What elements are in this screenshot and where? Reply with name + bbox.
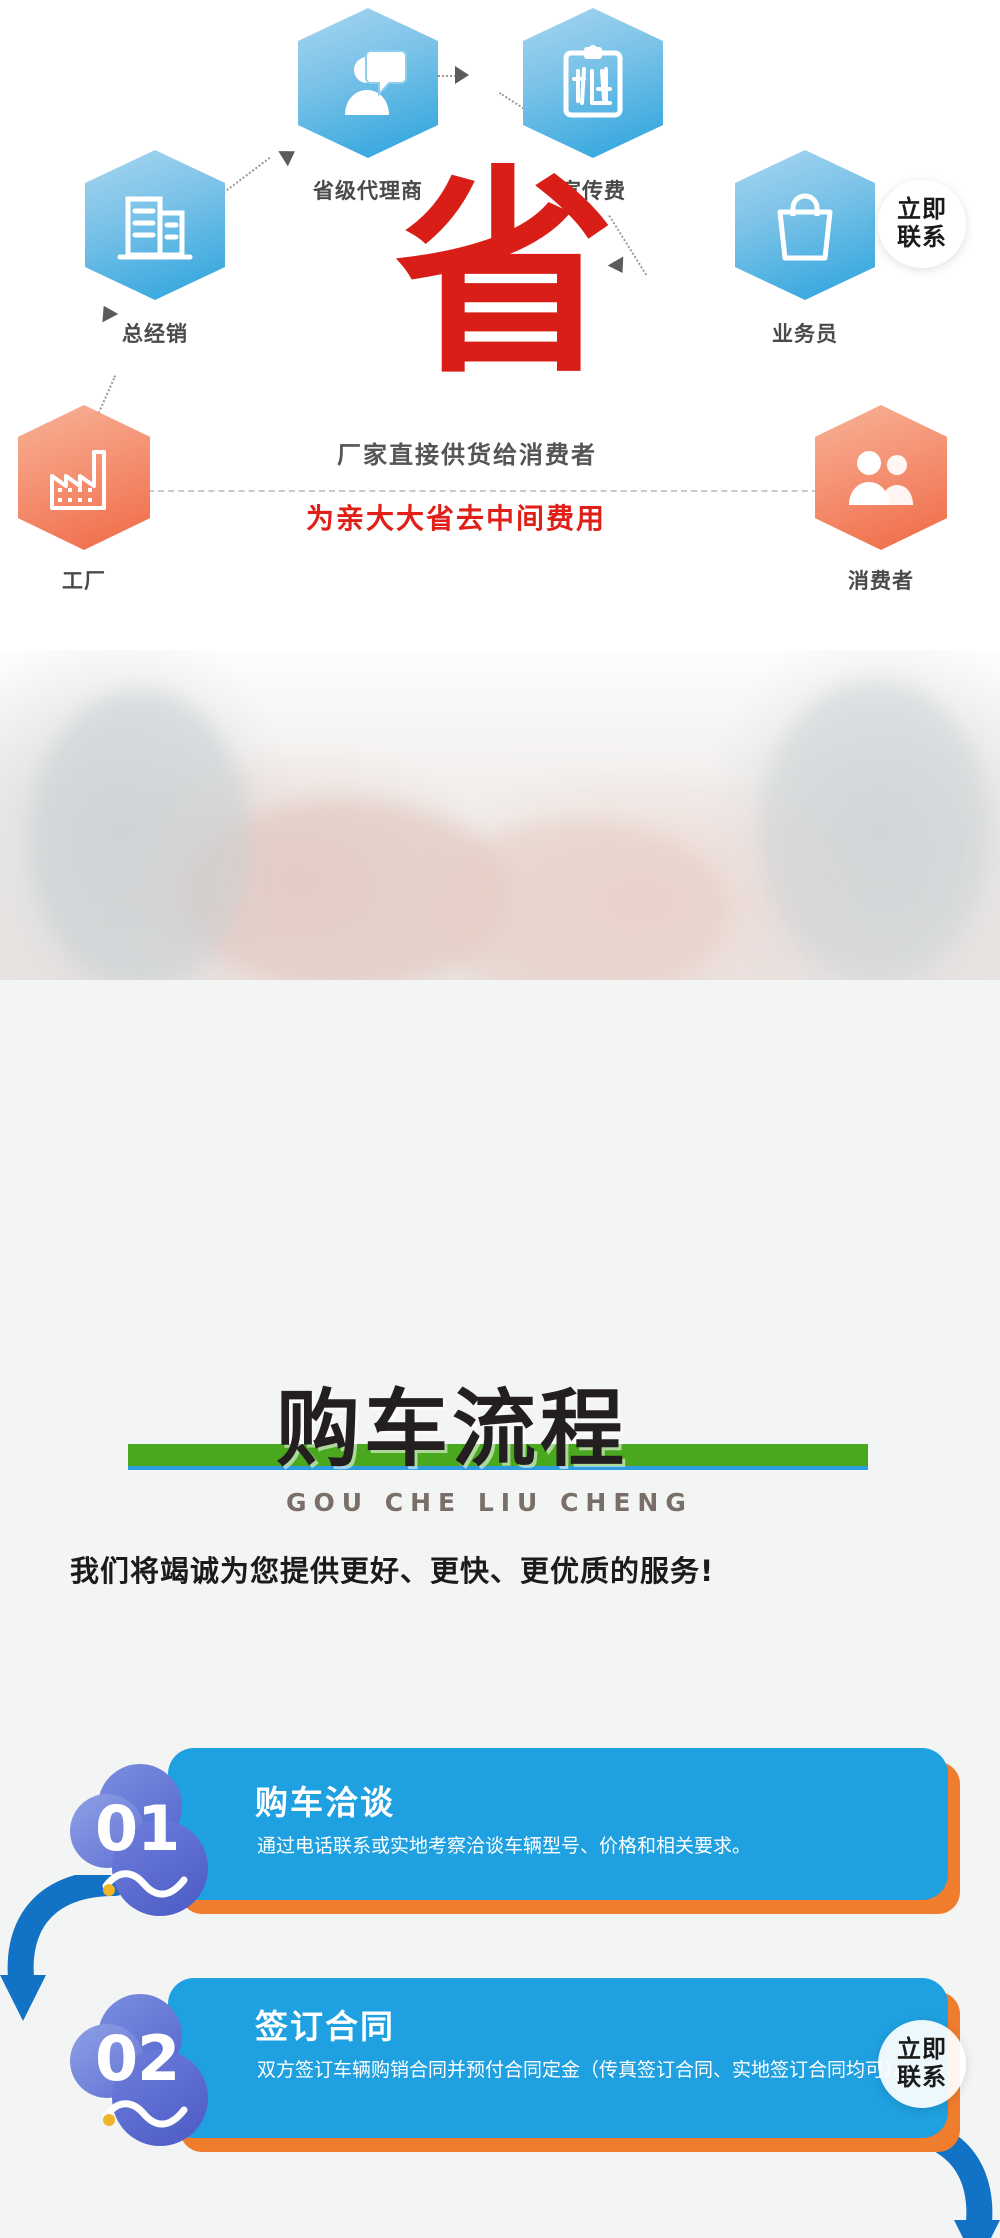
step-number-02: 02 bbox=[95, 2022, 179, 2095]
card-body-01 bbox=[168, 1748, 948, 1900]
agent-chat-icon bbox=[329, 45, 407, 121]
arrowhead-agent bbox=[278, 144, 299, 167]
step-title-02: 签订合同 bbox=[255, 2000, 395, 2048]
step-card-01[interactable]: 01 购车洽谈 通过电话联系或实地考察洽谈车辆型号、价格和相关要求。 bbox=[0, 1740, 1000, 1930]
step-desc-02: 双方签订车辆购销合同并预付合同定金（传真签订合同、实地签订合同均可）。 bbox=[257, 2056, 937, 2085]
page-subtitle: 我们将竭诚为您提供更好、更快、更优质的服务! bbox=[70, 1548, 714, 1590]
contact-top-line2: 联系 bbox=[897, 224, 947, 252]
page-title: 购车流程 bbox=[276, 1362, 628, 1483]
node-label-general-distributor: 总经销 bbox=[45, 318, 265, 348]
squiggle-01 bbox=[102, 1868, 188, 1898]
clipboard-approval-icon bbox=[558, 43, 628, 123]
panel-purchase-flow: 购车流程 GOU CHE LIU CHENG 我们将竭诚为您提供更好、更快、更优… bbox=[0, 650, 1000, 2238]
connector-factory-to-consumer-direct bbox=[148, 490, 848, 492]
node-promotion-fee bbox=[523, 8, 663, 158]
node-factory bbox=[18, 405, 150, 550]
step-card-03[interactable]: 03 安排生产 我公司根据合同要求，安排车间生产 bbox=[0, 2230, 1000, 2238]
step-card-02[interactable]: 02 签订合同 双方签订车辆购销合同并预付合同定金（传真签订合同、实地签订合同均… bbox=[0, 1970, 1000, 2170]
contact-top-line1: 立即 bbox=[897, 196, 947, 224]
contact-button-top[interactable]: 立即 联系 bbox=[878, 180, 966, 268]
big-character-sheng: 省 bbox=[395, 175, 615, 375]
step-title-01: 购车洽谈 bbox=[255, 1776, 395, 1824]
shopping-bag-icon bbox=[770, 186, 840, 264]
squiggle-02 bbox=[102, 2098, 188, 2128]
hero-banner bbox=[0, 650, 1000, 980]
node-salesperson bbox=[735, 150, 875, 300]
node-provincial-agent bbox=[298, 8, 438, 158]
factory-icon bbox=[46, 442, 122, 514]
panel1-subtitle: 厂家直接供货给消费者 bbox=[337, 435, 597, 470]
node-consumer bbox=[815, 405, 947, 550]
node-general-distributor bbox=[85, 150, 225, 300]
page-title-pinyin: GOU CHE LIU CHENG bbox=[286, 1488, 693, 1517]
node-label-salesperson: 业务员 bbox=[695, 318, 915, 348]
consumer-people-icon bbox=[841, 447, 921, 509]
contact-bottom-line1: 立即 bbox=[897, 2036, 947, 2064]
step-number-01: 01 bbox=[95, 1792, 179, 1865]
panel1-slogan: 为亲大大省去中间费用 bbox=[306, 497, 606, 537]
node-label-factory: 工厂 bbox=[0, 565, 194, 595]
contact-bottom-line2: 联系 bbox=[897, 2064, 947, 2092]
handshake-photo-blur-d bbox=[760, 680, 990, 980]
building-icon bbox=[116, 185, 194, 265]
node-label-consumer: 消费者 bbox=[771, 565, 991, 595]
handshake-photo-blur-c bbox=[30, 690, 250, 980]
panel-distribution-diagram: 省级代理商 宣传费 bbox=[0, 0, 1000, 650]
step-desc-01: 通过电话联系或实地考察洽谈车辆型号、价格和相关要求。 bbox=[257, 1832, 917, 1861]
arrowhead-promotion bbox=[455, 66, 469, 84]
contact-button-bottom[interactable]: 立即 联系 bbox=[878, 2020, 966, 2108]
promo-page: 省级代理商 宣传费 bbox=[0, 0, 1000, 2238]
